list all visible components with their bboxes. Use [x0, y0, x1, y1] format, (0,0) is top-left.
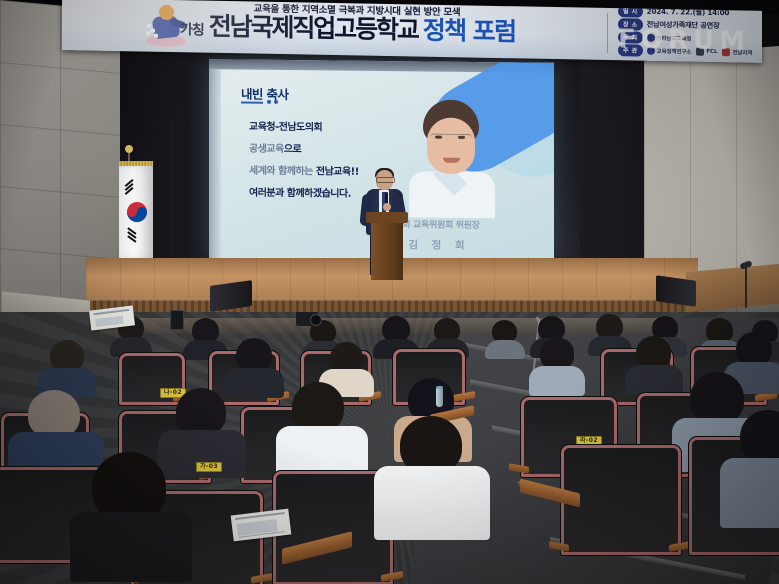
taeguk-icon — [127, 202, 147, 222]
phone-device — [170, 310, 184, 330]
banner-title-prefix: 가칭 — [180, 19, 204, 39]
front-row-desk-line — [100, 318, 660, 334]
auditorium-photo: 교육을 통한 지역소멸 극복과 지방시대 실현 방안 모색 가칭 전남국제직업고… — [0, 0, 779, 584]
flag-fringe-top — [119, 161, 153, 166]
slide-body-line-1: 교육청-전남도의회 — [249, 118, 429, 135]
screen-left-edge — [209, 69, 221, 260]
podium — [366, 212, 408, 282]
slide-body-line-2: 공생교육으로 — [249, 140, 429, 157]
stage-wing-right — [686, 264, 779, 312]
slide-line2-muted: 공생교육 — [249, 144, 284, 155]
slide-line2-bold: 으로 — [284, 144, 301, 155]
water-bottle — [436, 386, 443, 407]
banner-title-group: 가칭 전남국제직업고등학교 정책 포럼 — [180, 13, 516, 45]
banner-title-main: 전남국제직업고등학교 — [209, 14, 418, 43]
slide-line3-muted: 세계와 함께하는 — [249, 166, 316, 178]
glasses-icon — [376, 177, 395, 183]
banner-title-accent: 정책 포럼 — [423, 18, 516, 45]
seat-number-tag: 가-03 — [196, 462, 222, 472]
flag-finial-icon — [125, 145, 133, 153]
slide-title-underline — [241, 102, 263, 104]
camera-device — [296, 312, 318, 326]
flag-cloth — [119, 164, 153, 260]
slide-title-dots — [267, 100, 278, 104]
slide-title: 내빈 축사 — [241, 84, 288, 103]
slide-line3-bold: 전남교육!! — [316, 166, 359, 177]
banner-divider — [607, 13, 608, 53]
banner-watermark: FORUM — [618, 24, 750, 56]
microphone-stand — [745, 266, 747, 308]
stage-monitor-right — [656, 275, 696, 307]
